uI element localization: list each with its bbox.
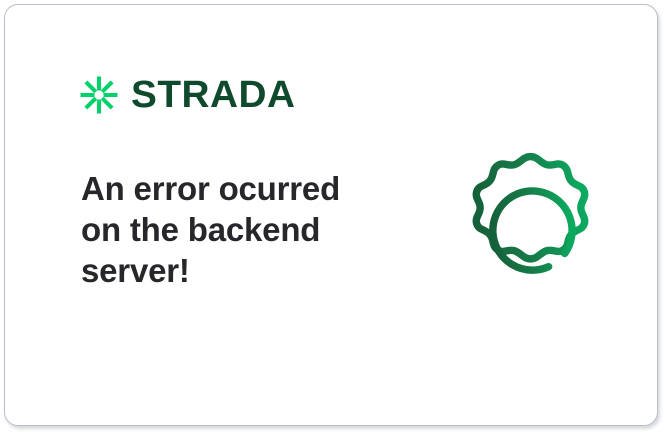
brand-name: STRADA — [131, 76, 296, 114]
error-card: STRADA An error ocurred on the backend s… — [4, 4, 658, 426]
strada-asterisk-icon — [79, 75, 119, 115]
gear-icon — [448, 145, 613, 310]
brand-lockup: STRADA — [79, 75, 292, 115]
error-message: An error ocurred on the backend server! — [81, 168, 381, 291]
